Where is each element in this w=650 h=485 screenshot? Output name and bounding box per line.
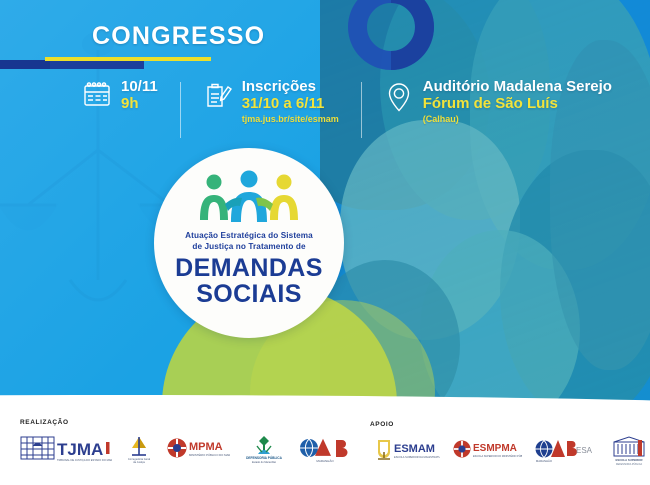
svg-text:DEFENSORIA PÚBLICA: DEFENSORIA PÚBLICA (616, 463, 643, 466)
svg-text:TJMA: TJMA (57, 440, 103, 459)
clipboard-pencil-icon (203, 78, 233, 110)
svg-text:ESCOLA SUPERIOR DO MINISTÉRIO: ESCOLA SUPERIOR DO MINISTÉRIO PÚBLICO (473, 455, 522, 458)
time-value: 9h (121, 95, 158, 113)
title-underline-yellow-bar (45, 57, 211, 61)
info-block-venue: Auditório Madalena Serejo Fórum de São L… (384, 78, 612, 125)
footer-apoio-section: APOIO ESMAM ESCOLA SUPERIOR DA MAGISTRAT… (352, 409, 650, 485)
apoio-logo-strip: ESMAM ESCOLA SUPERIOR DA MAGISTRATURA ES… (370, 434, 650, 468)
three-people-icon (190, 170, 308, 222)
svg-text:MARANHÃO: MARANHÃO (316, 458, 334, 463)
event-logo-badge: Atuação Estratégica do Sistema de Justiç… (154, 148, 344, 338)
svg-text:ESA: ESA (576, 446, 593, 455)
oab-logo: MARANHÃO (298, 432, 352, 466)
page-title: CONGRESSO (92, 22, 265, 51)
badge-subtitle-line-1: Atuação Estratégica do Sistema (185, 231, 313, 242)
mpma-logo: MPMA MINISTÉRIO PÚBLICO DO MARANHÃO (166, 432, 230, 466)
registration-label: Inscrições (242, 78, 339, 95)
svg-text:DEFENSORIA PÚBLICA: DEFENSORIA PÚBLICA (246, 455, 283, 460)
defensoria-publica-logo: DEFENSORIA PÚBLICA Estado do Maranhão (240, 432, 288, 466)
realizacao-logo-strip: TJMA TRIBUNAL DE JUSTIÇA DO ESTADO DO MA… (20, 432, 352, 466)
svg-text:ESCOLA SUPERIOR: ESCOLA SUPERIOR (616, 458, 643, 462)
info-block-date: 10/11 9h (82, 78, 158, 113)
escola-superior-logo: ESCOLA SUPERIOR DEFENSORIA PÚBLICA (608, 434, 650, 468)
tjma-logo: TJMA TRIBUNAL DE JUSTIÇA DO ESTADO DO MA… (20, 432, 112, 466)
esmam-logo: ESMAM ESCOLA SUPERIOR DA MAGISTRATURA (370, 434, 440, 468)
footer-realizacao-section: REALIZAÇÃO TJMA TRIBUNAL DE JUSTIÇA DO E… (0, 409, 352, 485)
apoio-label: APOIO (370, 421, 650, 428)
badge-title-line-1: DEMANDAS (175, 256, 323, 281)
badge-subtitle-line-2: de Justiça no Tratamento de (185, 242, 313, 253)
map-pin-icon (384, 78, 414, 114)
badge-title-line-2: SOCIAIS (196, 281, 302, 307)
registration-url[interactable]: tjma.jus.br/site/esmam (242, 113, 339, 125)
oab-esa-logo: MARANHÃO ESA (534, 434, 596, 468)
venue-neighborhood: (Calhau) (423, 113, 612, 125)
svg-text:ESMAM: ESMAM (394, 443, 435, 455)
title-row: CONGRESSO (0, 22, 650, 56)
date-value: 10/11 (121, 78, 158, 95)
svg-text:da Justiça: da Justiça (133, 460, 145, 464)
registration-period: 31/10 a 6/11 (242, 95, 339, 113)
esmpma-logo: ESMPMA ESCOLA SUPERIOR DO MINISTÉRIO PÚB… (452, 434, 522, 468)
divider-1 (180, 82, 181, 138)
title-underline-navy-bar-dark (0, 60, 50, 69)
corregedoria-logo: Corregedoria Geral da Justiça (122, 432, 156, 466)
svg-text:ESMPMA: ESMPMA (473, 443, 517, 454)
svg-text:MINISTÉRIO PÚBLICO DO MARANHÃO: MINISTÉRIO PÚBLICO DO MARANHÃO (189, 452, 230, 457)
venue-building: Fórum de São Luís (423, 95, 612, 113)
event-info-row: 10/11 9h Inscrições 31/10 a 6/11 tjma.ju… (0, 78, 650, 140)
svg-text:MPMA: MPMA (189, 441, 223, 453)
realizacao-label: REALIZAÇÃO (20, 419, 352, 426)
info-block-registration: Inscrições 31/10 a 6/11 tjma.jus.br/site… (203, 78, 339, 125)
venue-name: Auditório Madalena Serejo (423, 78, 612, 95)
footer: REALIZAÇÃO TJMA TRIBUNAL DE JUSTIÇA DO E… (0, 409, 650, 485)
event-poster: CONGRESSO 10/11 9h (0, 0, 650, 485)
svg-text:Estado do Maranhão: Estado do Maranhão (252, 460, 277, 464)
calendar-icon (82, 78, 112, 110)
svg-text:MARANHÃO: MARANHÃO (536, 458, 553, 463)
svg-text:ESCOLA SUPERIOR DA MAGISTRATUR: ESCOLA SUPERIOR DA MAGISTRATURA (394, 455, 440, 459)
divider-2 (361, 82, 362, 138)
